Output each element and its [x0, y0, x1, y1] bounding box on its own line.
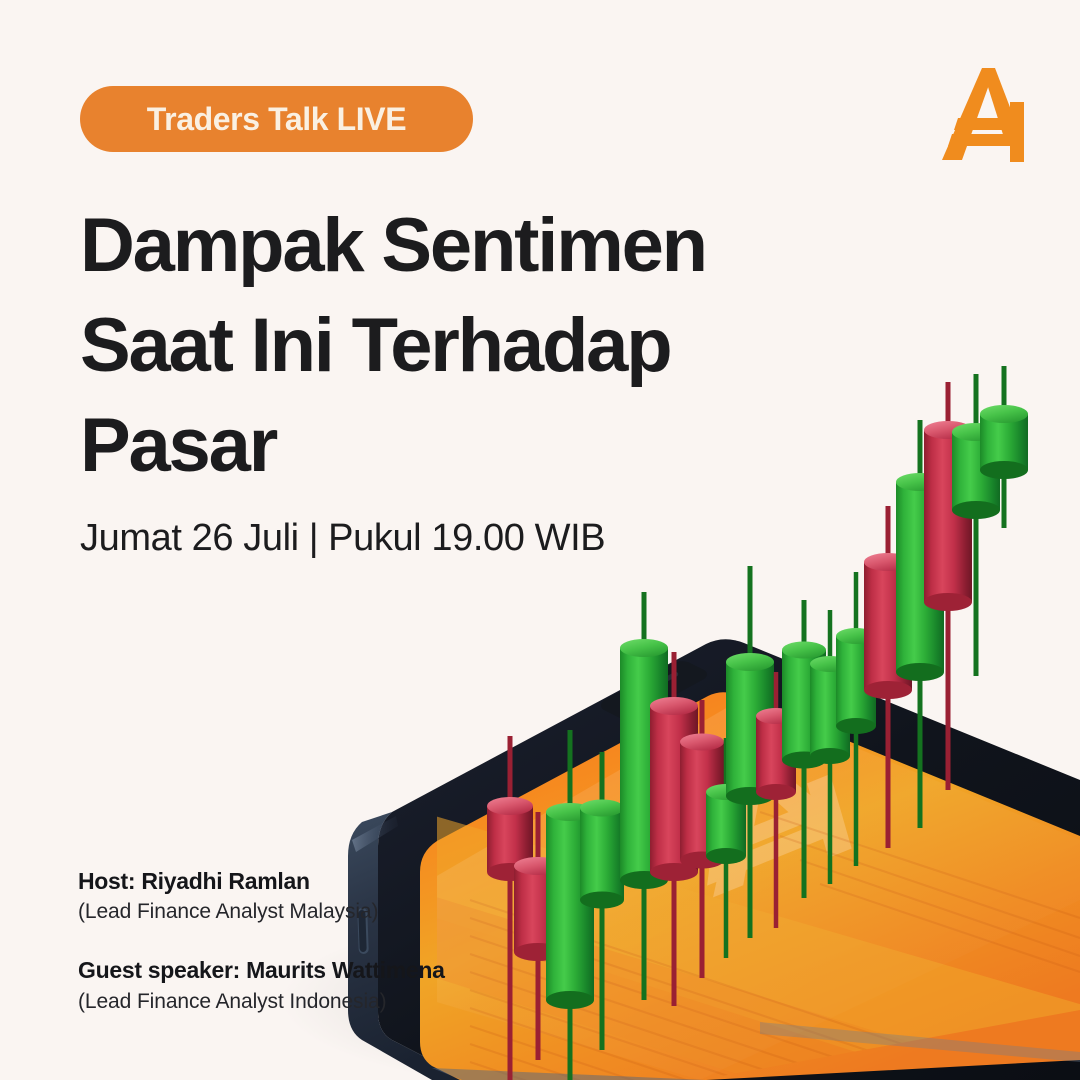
candle-17 — [952, 374, 1000, 676]
live-badge[interactable]: Traders Talk LIVE — [80, 86, 473, 152]
candle-15 — [896, 420, 944, 828]
poster-canvas: Traders Talk LIVE Dampak Sentimen Saat I… — [0, 0, 1080, 1080]
guest-role: (Lead Finance Analyst Indonesia) — [78, 987, 445, 1017]
candle-2 — [514, 812, 562, 1060]
candle-5 — [620, 592, 668, 1000]
candle-3 — [546, 730, 594, 1080]
candle-12 — [810, 610, 850, 884]
candle-11 — [782, 600, 826, 898]
event-datetime: Jumat 26 Juli|Pukul 19.00 WIB — [80, 516, 605, 562]
candle-1 — [487, 736, 533, 1080]
candle-16 — [924, 382, 972, 790]
headline-line-2: Saat Ini Terhadap — [80, 296, 800, 396]
credit-host: Host: Riyadhi Ramlan (Lead Finance Analy… — [78, 866, 445, 927]
candle-7 — [680, 700, 724, 978]
candle-4 — [580, 752, 624, 1050]
candle-14 — [864, 506, 912, 848]
candle-9 — [726, 566, 774, 938]
event-time: Pukul 19.00 WIB — [328, 517, 605, 559]
candle-6 — [650, 652, 698, 1006]
host-name: Host: Riyadhi Ramlan — [78, 866, 445, 897]
headline-line-1: Dampak Sentimen — [80, 196, 800, 296]
page-title: Dampak Sentimen Saat Ini Terhadap Pasar — [80, 196, 800, 496]
guest-name: Guest speaker: Maurits Wattimena — [78, 955, 445, 986]
event-date: Jumat 26 Juli — [80, 517, 299, 559]
candle-8 — [706, 738, 746, 958]
ascendex-a-logo-icon — [932, 62, 1038, 166]
candle-13 — [836, 572, 876, 866]
candle-10 — [756, 672, 796, 928]
credit-guest: Guest speaker: Maurits Wattimena (Lead F… — [78, 955, 445, 1016]
phone-device — [348, 639, 1080, 1080]
host-role: (Lead Finance Analyst Malaysia) — [78, 897, 445, 927]
credits: Host: Riyadhi Ramlan (Lead Finance Analy… — [78, 866, 445, 1017]
candle-18 — [980, 366, 1028, 528]
event-separator: | — [299, 517, 328, 559]
headline-line-3: Pasar — [80, 396, 800, 496]
live-badge-label: Traders Talk LIVE — [147, 103, 406, 135]
